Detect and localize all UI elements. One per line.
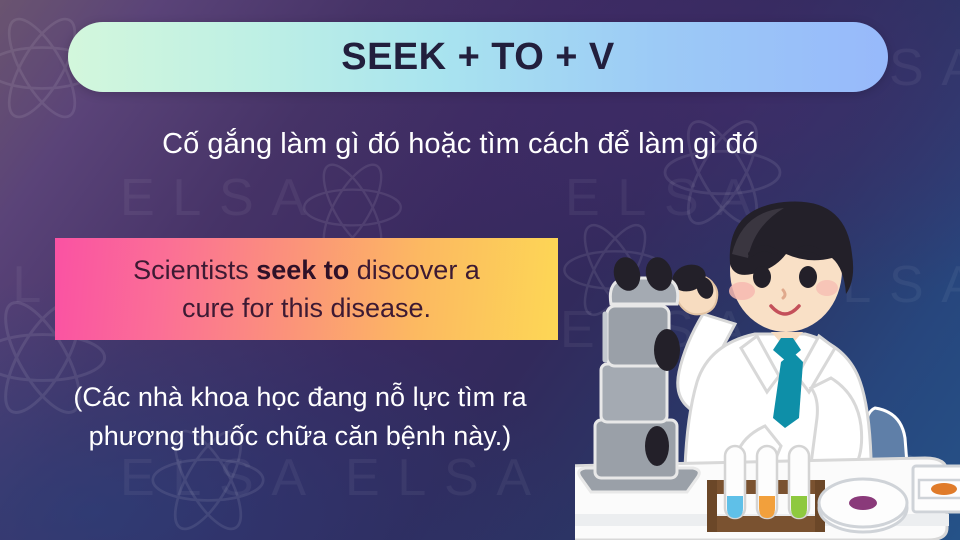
head <box>729 201 853 332</box>
test-tube <box>757 446 777 518</box>
petri-dish <box>819 479 907 532</box>
subtitle-text: Cố gắng làm gì đó hoặc tìm cách để làm g… <box>0 128 920 161</box>
watermark-text: ELSA <box>120 448 324 508</box>
watermark-text: ELSA <box>120 168 324 228</box>
example-highlight: seek to <box>256 255 349 285</box>
example-line-2: cure for this disease. <box>182 289 431 327</box>
translation-text: (Các nhà khoa học đang nỗ lực tìm ra phư… <box>0 378 600 456</box>
test-tube <box>725 446 745 518</box>
example-suffix: discover a <box>349 255 480 285</box>
page-title: SEEK + TO + V <box>341 36 614 79</box>
watermark-text: ELSA <box>345 448 549 508</box>
translation-line-1: (Các nhà khoa học đang nỗ lực tìm ra <box>0 378 600 417</box>
slide-tray <box>913 466 960 512</box>
test-tube-rack <box>707 446 825 532</box>
translation-line-2: phương thuốc chữa căn bệnh này.) <box>0 417 600 456</box>
example-prefix: Scientists <box>133 255 256 285</box>
title-banner: SEEK + TO + V <box>68 22 888 92</box>
slide-root: ELSA ELSA ELSA ELSA ELSA ELSA ELSA ELSA … <box>0 0 960 540</box>
test-tube <box>789 446 809 518</box>
example-line-1: Scientists seek to discover a <box>133 251 480 289</box>
scientist-illustration <box>575 178 960 540</box>
example-sentence-box: Scientists seek to discover a cure for t… <box>55 238 558 340</box>
